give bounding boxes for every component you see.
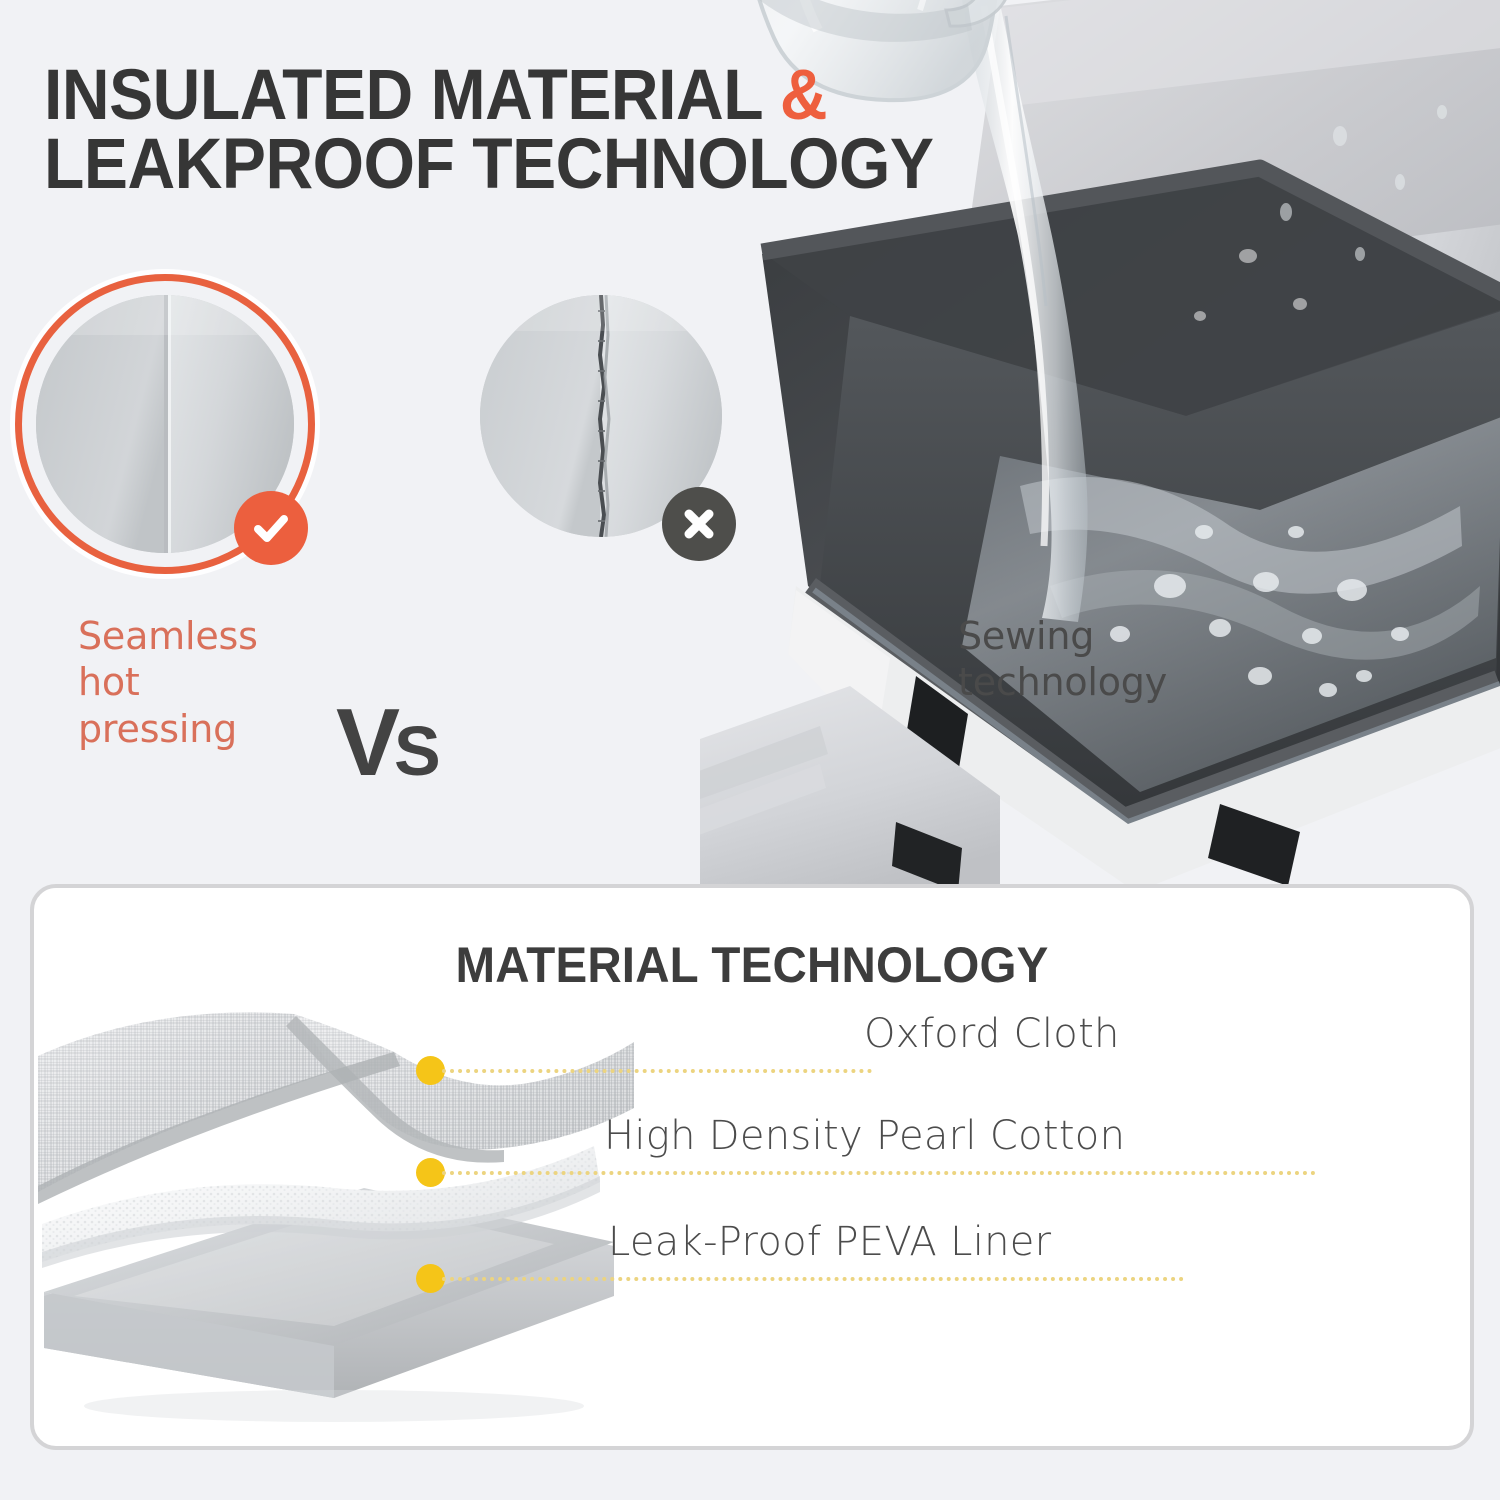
layer-label-row: Oxford Cloth	[416, 1069, 1416, 1071]
vs-letter-v: V	[336, 689, 400, 796]
layer-label-pearl-cotton: High Density Pearl Cotton	[604, 1113, 1125, 1159]
leader-line	[442, 1069, 872, 1073]
layer-label-peva-liner: Leak-Proof PEVA Liner	[608, 1219, 1051, 1265]
page-title: INSULATED MATERIAL & LEAKPROOF TECHNOLOG…	[44, 62, 1064, 200]
layer-marker-dot	[416, 1056, 445, 1085]
layer-label-oxford-cloth: Oxford Cloth	[864, 1011, 1120, 1057]
comparison-section: Seamless hot pressing VS	[0, 295, 760, 765]
layer-label-row: High Density Pearl Cotton	[416, 1171, 1416, 1173]
material-card-title: MATERIAL TECHNOLOGY	[70, 936, 1434, 994]
material-layers-illustration	[34, 996, 634, 1446]
seamless-caption: Seamless hot pressing	[78, 613, 294, 752]
sewing-caption: Sewing technology	[958, 613, 1167, 706]
layer-marker-dot	[416, 1264, 445, 1293]
headline-ampersand: &	[780, 56, 827, 135]
vs-letter-s: S	[394, 712, 441, 790]
leader-line	[442, 1171, 1316, 1175]
layer-label-row: Leak-Proof PEVA Liner	[416, 1277, 1416, 1279]
check-icon	[234, 491, 308, 565]
layer-marker-dot	[416, 1158, 445, 1187]
leader-line	[442, 1277, 1184, 1281]
infographic-page: INSULATED MATERIAL & LEAKPROOF TECHNOLOG…	[0, 0, 1500, 1500]
comparison-item-sewing: Sewing technology	[480, 295, 722, 537]
vs-label: VS	[336, 695, 441, 791]
cross-icon	[662, 487, 736, 561]
headline-line-1-text: INSULATED MATERIAL	[44, 56, 780, 135]
comparison-item-seamless: Seamless hot pressing	[36, 295, 294, 553]
material-technology-card: MATERIAL TECHNOLOGY	[30, 884, 1474, 1450]
headline-line-2: LEAKPROOF TECHNOLOGY	[44, 131, 993, 200]
headline-line-1: INSULATED MATERIAL &	[44, 62, 993, 131]
